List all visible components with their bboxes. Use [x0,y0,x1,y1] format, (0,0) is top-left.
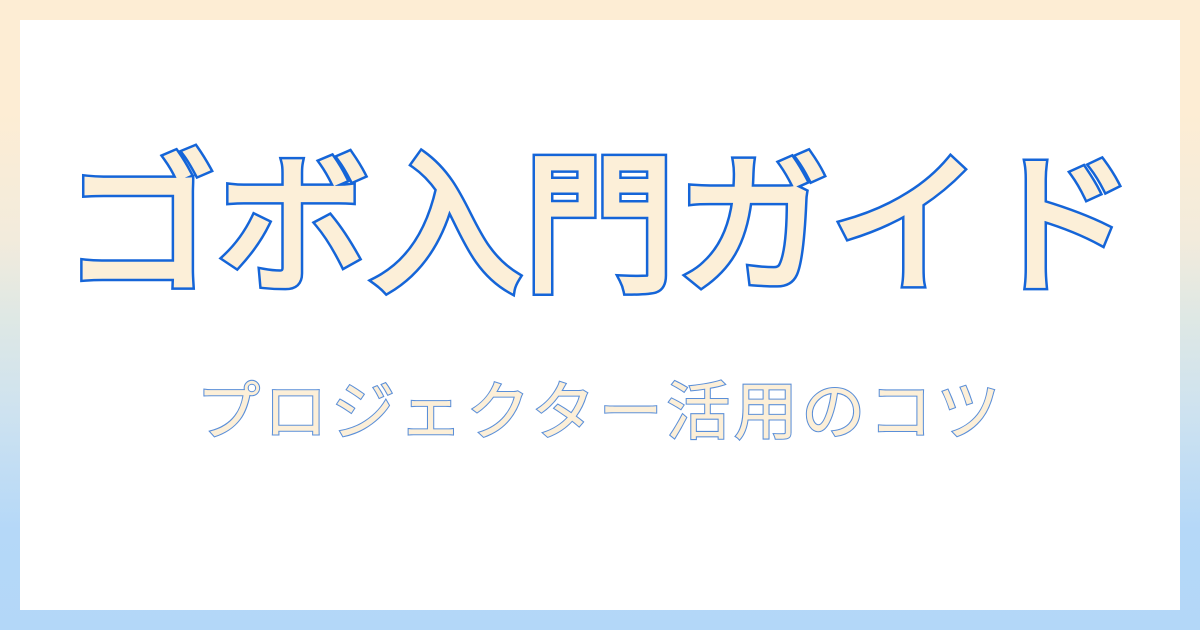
page-title: ゴボ入門ガイド [64,146,1137,307]
subtitle-block: プロジェクター活用のコツ [20,378,1180,448]
page-subtitle: プロジェクター活用のコツ [196,378,1004,448]
content-panel: ゴボ入門ガイド プロジェクター活用のコツ [20,20,1180,610]
title-block: ゴボ入門ガイド [20,146,1180,307]
poster-canvas: ゴボ入門ガイド プロジェクター活用のコツ [0,0,1200,630]
